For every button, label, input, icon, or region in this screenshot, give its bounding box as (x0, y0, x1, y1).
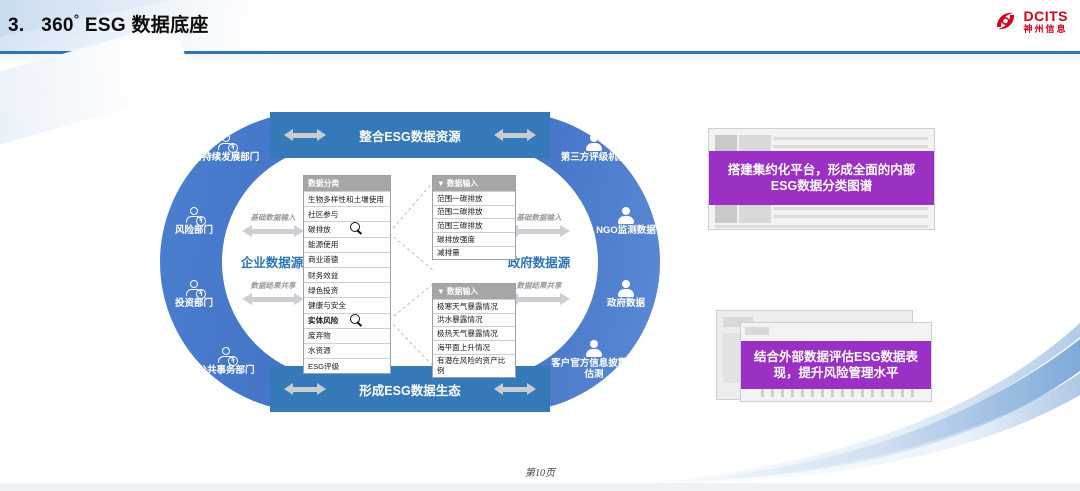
page-number: 第10页 (0, 464, 1080, 479)
node-label: 第三方评级机构 (561, 152, 628, 163)
double-arrow-icon (284, 129, 326, 142)
table-row[interactable]: 范围一碳排放 (433, 191, 515, 205)
callout-band: 结合外部数据评估ESG数据表现，提升风险管理水平 (741, 341, 931, 389)
person-icon: S (217, 347, 235, 364)
logo-cn: 神州信息 (1024, 25, 1069, 34)
person-icon: S (185, 280, 203, 297)
callout-card-2: 结合外部数据评估ESG数据表现，提升风险管理水平 (740, 322, 932, 402)
bottom-bar-label: 形成ESG数据生态 (359, 380, 460, 399)
table-row[interactable]: 减排量 (433, 246, 515, 260)
degree-symbol: ° (74, 12, 80, 27)
table-row[interactable]: 极热天气暴露情况 (433, 326, 515, 340)
person-icon: S (185, 207, 203, 224)
brand-logo: DCITS 神州信息 (993, 8, 1069, 34)
page-title: 3. 360° ESG 数据底座 (8, 10, 209, 37)
table-row[interactable]: 健康与安全 (304, 297, 390, 312)
page-title-rest: ESG 数据底座 (85, 15, 209, 36)
node-label: 公共事务部门 (197, 365, 254, 376)
table-row[interactable]: 商业道德 (304, 252, 390, 267)
table-header: ▼ 数据输入 (433, 176, 515, 191)
table-header: ▼ 数据输入 (433, 284, 515, 299)
data-input-table-physical-risk[interactable]: ▼ 数据输入 极寒天气暴露情况 洪水暴露情况 极热天气暴露情况 海平面上升情况 … (432, 283, 516, 378)
table-row[interactable]: 实体风险 (304, 313, 390, 328)
sidebar-node-investment[interactable]: S 投资部门 (148, 280, 240, 310)
double-arrow-icon (494, 129, 536, 142)
search-icon (350, 314, 363, 327)
sidebar-node-risk[interactable]: S 风险部门 (148, 207, 240, 237)
data-input-table-emissions[interactable]: ▼ 数据输入 范围一碳排放 范围二碳排放 范围三碳排放 碳排放强度 减排量 (432, 175, 516, 260)
page-title-number: 3. (8, 15, 24, 36)
table-row[interactable]: 极寒天气暴露情况 (433, 299, 515, 313)
table-row[interactable]: 碳排放 (304, 221, 390, 236)
person-icon (617, 280, 635, 297)
table-row[interactable]: 有潜在风险的资产比例 (433, 354, 515, 377)
search-icon (350, 222, 363, 235)
node-label: 风险部门 (175, 225, 213, 236)
table-row[interactable]: 水资源 (304, 343, 390, 358)
double-arrow-icon (508, 293, 570, 306)
node-label: 投资部门 (175, 298, 213, 309)
sidebar-node-sustainability[interactable]: S 可持续发展部门 (180, 134, 272, 164)
table-row[interactable]: 生物多样性和土壤使用 (304, 191, 390, 206)
double-arrow-icon (284, 383, 326, 396)
callout-text: 搭建集约化平台，形成全面的内部ESG数据分类图谱 (715, 162, 928, 195)
callout-band: 搭建集约化平台，形成全面的内部ESG数据分类图谱 (709, 151, 934, 205)
person-icon (585, 340, 603, 357)
node-label: 政府数据 (607, 298, 645, 309)
person-icon (585, 134, 603, 151)
page-title-main: 360 (41, 15, 74, 36)
table-row[interactable]: 废弃物 (304, 328, 390, 343)
node-label: 可持续发展部门 (193, 152, 260, 163)
table-header: 数据分类 (304, 176, 390, 191)
table-row[interactable]: 范围三碳排放 (433, 218, 515, 232)
sidebar-node-ngo-data[interactable]: NGO监测数据 (580, 207, 672, 237)
logo-en: DCITS (1024, 9, 1069, 23)
double-arrow-icon (508, 225, 570, 238)
callout-text: 结合外部数据评估ESG数据表现，提升风险管理水平 (747, 349, 925, 382)
dcits-swirl-icon (993, 8, 1019, 34)
table-row[interactable]: 社区参与 (304, 206, 390, 221)
table-row[interactable]: 范围二碳排放 (433, 205, 515, 219)
footer-line (0, 483, 1080, 491)
table-row[interactable]: ESG评级 (304, 358, 390, 373)
callout-card-1: 搭建集约化平台，形成全面的内部ESG数据分类图谱 (708, 128, 935, 230)
table-row[interactable]: 绿色投资 (304, 282, 390, 297)
table-row[interactable]: 能源使用 (304, 237, 390, 252)
sidebar-node-government-data[interactable]: 政府数据 (580, 280, 672, 310)
double-arrow-icon (242, 293, 304, 306)
table-row[interactable]: 海平面上升情况 (433, 340, 515, 354)
table-cell-label: 碳排放 (308, 225, 331, 234)
data-category-table[interactable]: 数据分类 生物多样性和土壤使用 社区参与 碳排放 能源使用 商业道德 财务效益 … (303, 175, 391, 374)
table-row[interactable]: 财务效益 (304, 267, 390, 282)
node-label: NGO监测数据 (596, 225, 656, 236)
sidebar-node-third-party-rating[interactable]: 第三方评级机构 (548, 134, 640, 164)
double-arrow-icon (494, 383, 536, 396)
sidebar-node-public-affairs[interactable]: S 公共事务部门 (180, 347, 272, 377)
table-row[interactable]: 碳排放强度 (433, 232, 515, 246)
node-label: 客户官方信息披露及估测 (551, 358, 637, 380)
top-bar: 整合ESG数据资源 (270, 112, 550, 158)
table-cell-label: 实体风险 (308, 316, 338, 325)
top-bar-label: 整合ESG数据资源 (359, 126, 460, 145)
person-icon (617, 207, 635, 224)
logo-text: DCITS 神州信息 (1024, 9, 1069, 34)
person-icon: S (217, 134, 235, 151)
sidebar-node-client-disclosure[interactable]: 客户官方信息披露及估测 (548, 340, 640, 381)
double-arrow-icon (242, 225, 304, 238)
table-row[interactable]: 洪水暴露情况 (433, 313, 515, 327)
slide: 3. 360° ESG 数据底座 DCITS 神州信息 整合ESG数据资源 (0, 0, 1080, 491)
